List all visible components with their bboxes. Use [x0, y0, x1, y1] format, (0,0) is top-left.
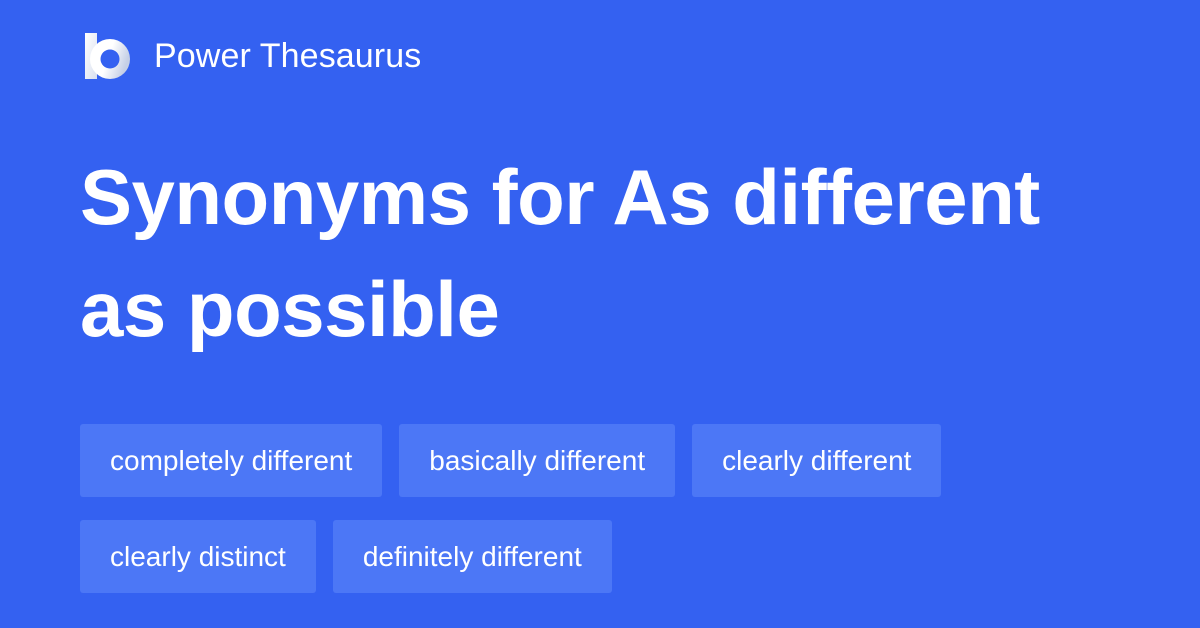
synonym-chip[interactable]: completely different: [80, 424, 382, 497]
synonym-chip[interactable]: clearly different: [692, 424, 941, 497]
powerthesaurus-b-logo-icon: [80, 30, 132, 82]
og-share-card: Power Thesaurus Synonyms for As differen…: [0, 0, 1200, 628]
synonym-chip[interactable]: clearly distinct: [80, 520, 316, 593]
brand-name: Power Thesaurus: [154, 39, 421, 73]
synonym-chip[interactable]: basically different: [399, 424, 675, 497]
brand-header[interactable]: Power Thesaurus: [80, 28, 421, 84]
page-title: Synonyms for As different as possible: [80, 141, 1120, 365]
synonym-chip-list: completely different basically different…: [80, 424, 1120, 593]
synonym-chip[interactable]: definitely different: [333, 520, 612, 593]
